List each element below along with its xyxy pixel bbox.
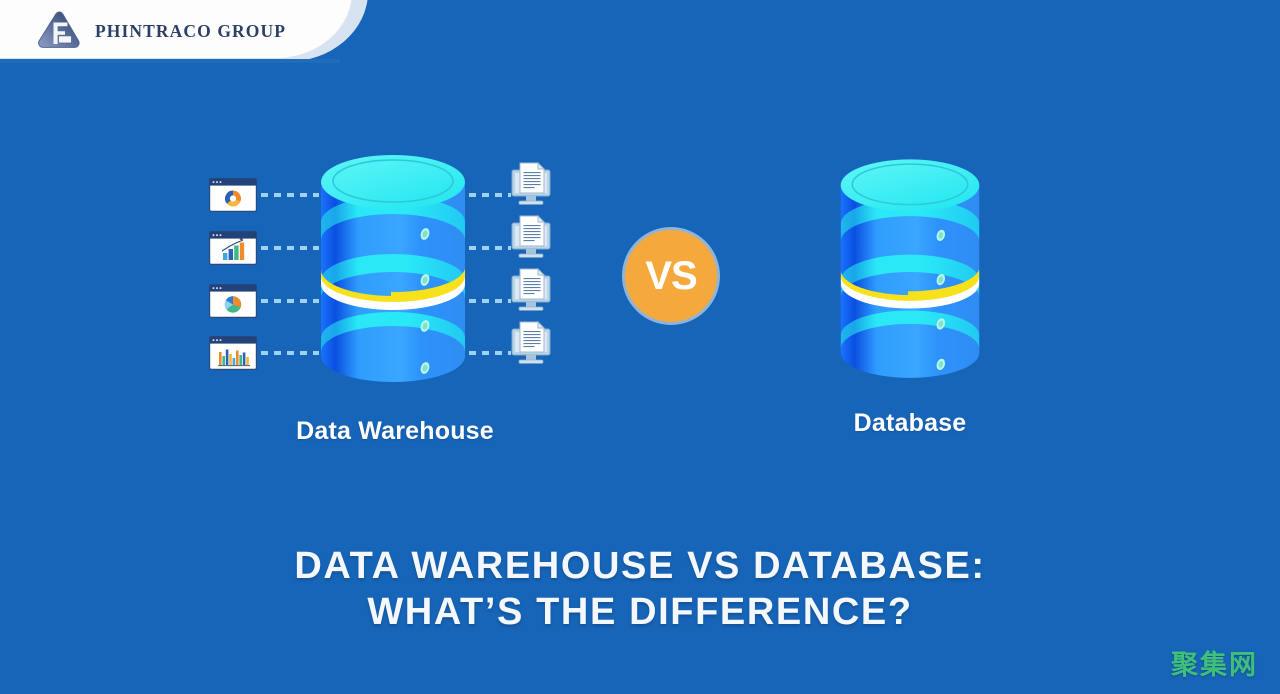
pie-chart-window-icon bbox=[209, 284, 257, 323]
bar-growth-chart-window-icon bbox=[209, 231, 257, 270]
database-label: Database bbox=[790, 409, 1030, 438]
document-monitor-icon bbox=[505, 160, 557, 215]
slide-canvas: PHINTRACO GROUP bbox=[0, 0, 1280, 694]
vs-badge: VS bbox=[622, 227, 720, 325]
document-monitor-icon bbox=[505, 213, 557, 268]
column-chart-window-icon bbox=[209, 336, 257, 375]
database-cylinder-icon bbox=[833, 150, 987, 397]
connector-line bbox=[261, 193, 319, 197]
page-title-line2: What’s the Difference? bbox=[0, 589, 1280, 635]
vs-label: VS bbox=[645, 256, 696, 296]
watermark: 聚集网 bbox=[1171, 643, 1258, 682]
page-title: Data Warehouse vs Database: What’s the D… bbox=[0, 543, 1280, 636]
donut-chart-window-icon bbox=[209, 178, 257, 217]
phintraco-triangle-logo-icon bbox=[36, 10, 82, 52]
document-monitor-icon bbox=[505, 319, 557, 374]
brand-name: PHINTRACO GROUP bbox=[95, 21, 286, 42]
header-rule bbox=[0, 59, 340, 63]
brand-lockup: PHINTRACO GROUP bbox=[36, 10, 286, 52]
data-warehouse-cylinder-icon bbox=[313, 150, 473, 397]
data-warehouse-label: Data Warehouse bbox=[260, 417, 530, 446]
document-monitor-icon bbox=[505, 266, 557, 321]
connector-line bbox=[261, 299, 319, 303]
connector-line bbox=[261, 246, 319, 250]
page-title-line1: Data Warehouse vs Database: bbox=[294, 545, 985, 587]
connector-line bbox=[261, 351, 319, 355]
